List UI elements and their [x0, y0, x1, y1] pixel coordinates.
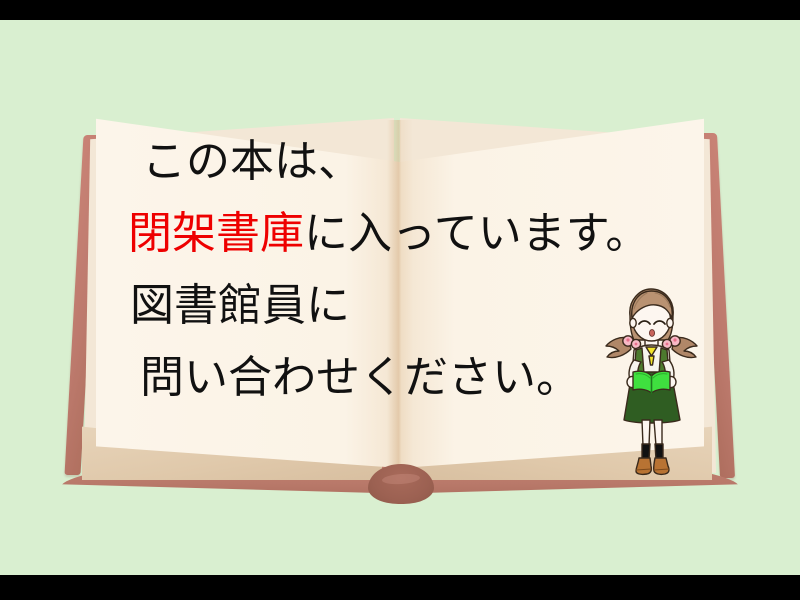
letterbox-bar-top — [0, 0, 800, 20]
tie-tail — [649, 356, 654, 365]
notice-line-1: この本は、 — [128, 126, 688, 198]
notice-line-2: 閉架書庫に入っています。 — [128, 198, 688, 270]
shoe-right — [654, 458, 669, 474]
book-spine-knot — [368, 464, 434, 504]
ear-right — [667, 318, 673, 327]
screenshot-canvas: この本は、 閉架書庫に入っています。 図書館員に 問い合わせください。 — [0, 0, 800, 600]
girl-reading-illustration — [598, 280, 704, 480]
scene-background: この本は、 閉架書庫に入っています。 図書館員に 問い合わせください。 — [0, 20, 800, 575]
keyword-closed-stacks: 閉架書庫 — [128, 208, 304, 259]
mouth — [649, 330, 654, 337]
shoe-left — [636, 458, 651, 474]
notice-line-2-rest: に入っています。 — [304, 208, 649, 259]
letterbox-bar-bottom — [0, 575, 800, 600]
ear-left — [630, 318, 636, 327]
leg-right — [654, 420, 662, 446]
leg-left — [642, 420, 650, 446]
